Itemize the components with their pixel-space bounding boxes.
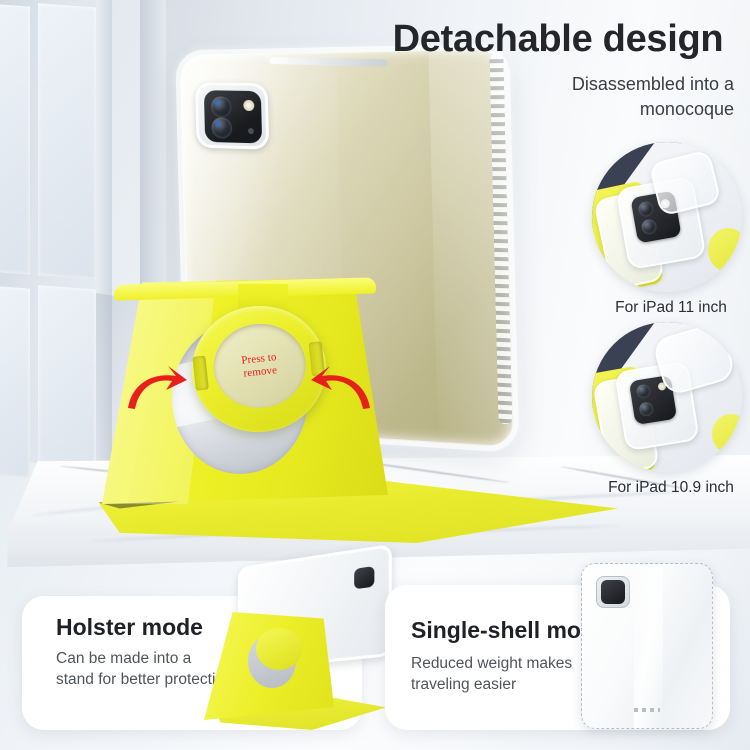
mini-camera	[354, 566, 374, 589]
shell-speaker-dots	[634, 708, 660, 712]
camera-lens	[211, 96, 232, 117]
thumbnail-yellow-accent	[712, 414, 742, 454]
card-body-line1: Can be made into a	[56, 650, 191, 667]
camera-lens	[211, 117, 232, 138]
card-body-line1: Reduced weight makes	[411, 655, 572, 672]
thumbnail-caption: For iPad 11 inch	[592, 299, 750, 317]
product-infographic: Press to remove Detachable design Disass…	[0, 0, 750, 750]
card-product-image-holster	[204, 556, 394, 731]
hub-release-tab-left[interactable]	[192, 356, 208, 391]
card-product-image-shell	[581, 563, 713, 729]
camera-mic	[248, 128, 254, 134]
window-pane	[38, 3, 96, 279]
window-pane	[0, 286, 30, 479]
thumbnail-yellow-accent	[708, 228, 742, 272]
card-body-line2: traveling easier	[411, 676, 516, 693]
camera-flash	[243, 100, 254, 111]
thumbnail-image	[592, 322, 742, 472]
card-title: Holster mode	[56, 614, 203, 641]
arrow-right-icon	[310, 362, 372, 414]
press-label-line2: remove	[243, 364, 278, 379]
press-to-remove-label: Press to remove	[241, 351, 279, 381]
arrow-left-icon	[126, 364, 188, 416]
shell-camera-plate	[601, 580, 625, 604]
thumbnail-ipad-11[interactable]: For iPad 11 inch	[592, 142, 750, 317]
camera-plate	[204, 90, 262, 143]
thumbnail-image	[592, 142, 742, 292]
subtitle-line2: monocoque	[640, 99, 734, 119]
mini-rotating-hub	[256, 628, 302, 670]
page-title: Detachable design	[382, 18, 734, 61]
shell-highlight	[634, 564, 663, 728]
thumbnail-caption: For iPad 10.9 inch	[592, 479, 750, 497]
camera-module	[195, 82, 269, 150]
thumbnail-ipad-109[interactable]: For iPad 10.9 inch	[592, 322, 750, 497]
hub-disc[interactable]: Press to remove	[210, 319, 310, 412]
feature-card-single-shell[interactable]: Single-shell model Reduced weight makes …	[385, 585, 730, 730]
subtitle-line1: Disassembled into a	[572, 74, 734, 94]
page-subtitle: Disassembled into a monocoque	[400, 72, 734, 122]
feature-card-holster[interactable]: Holster mode Can be made into a stand fo…	[22, 596, 362, 730]
yellow-rotating-stand: Press to remove	[88, 278, 628, 543]
window-pane	[0, 4, 30, 275]
shell-camera-cutout	[596, 576, 630, 608]
